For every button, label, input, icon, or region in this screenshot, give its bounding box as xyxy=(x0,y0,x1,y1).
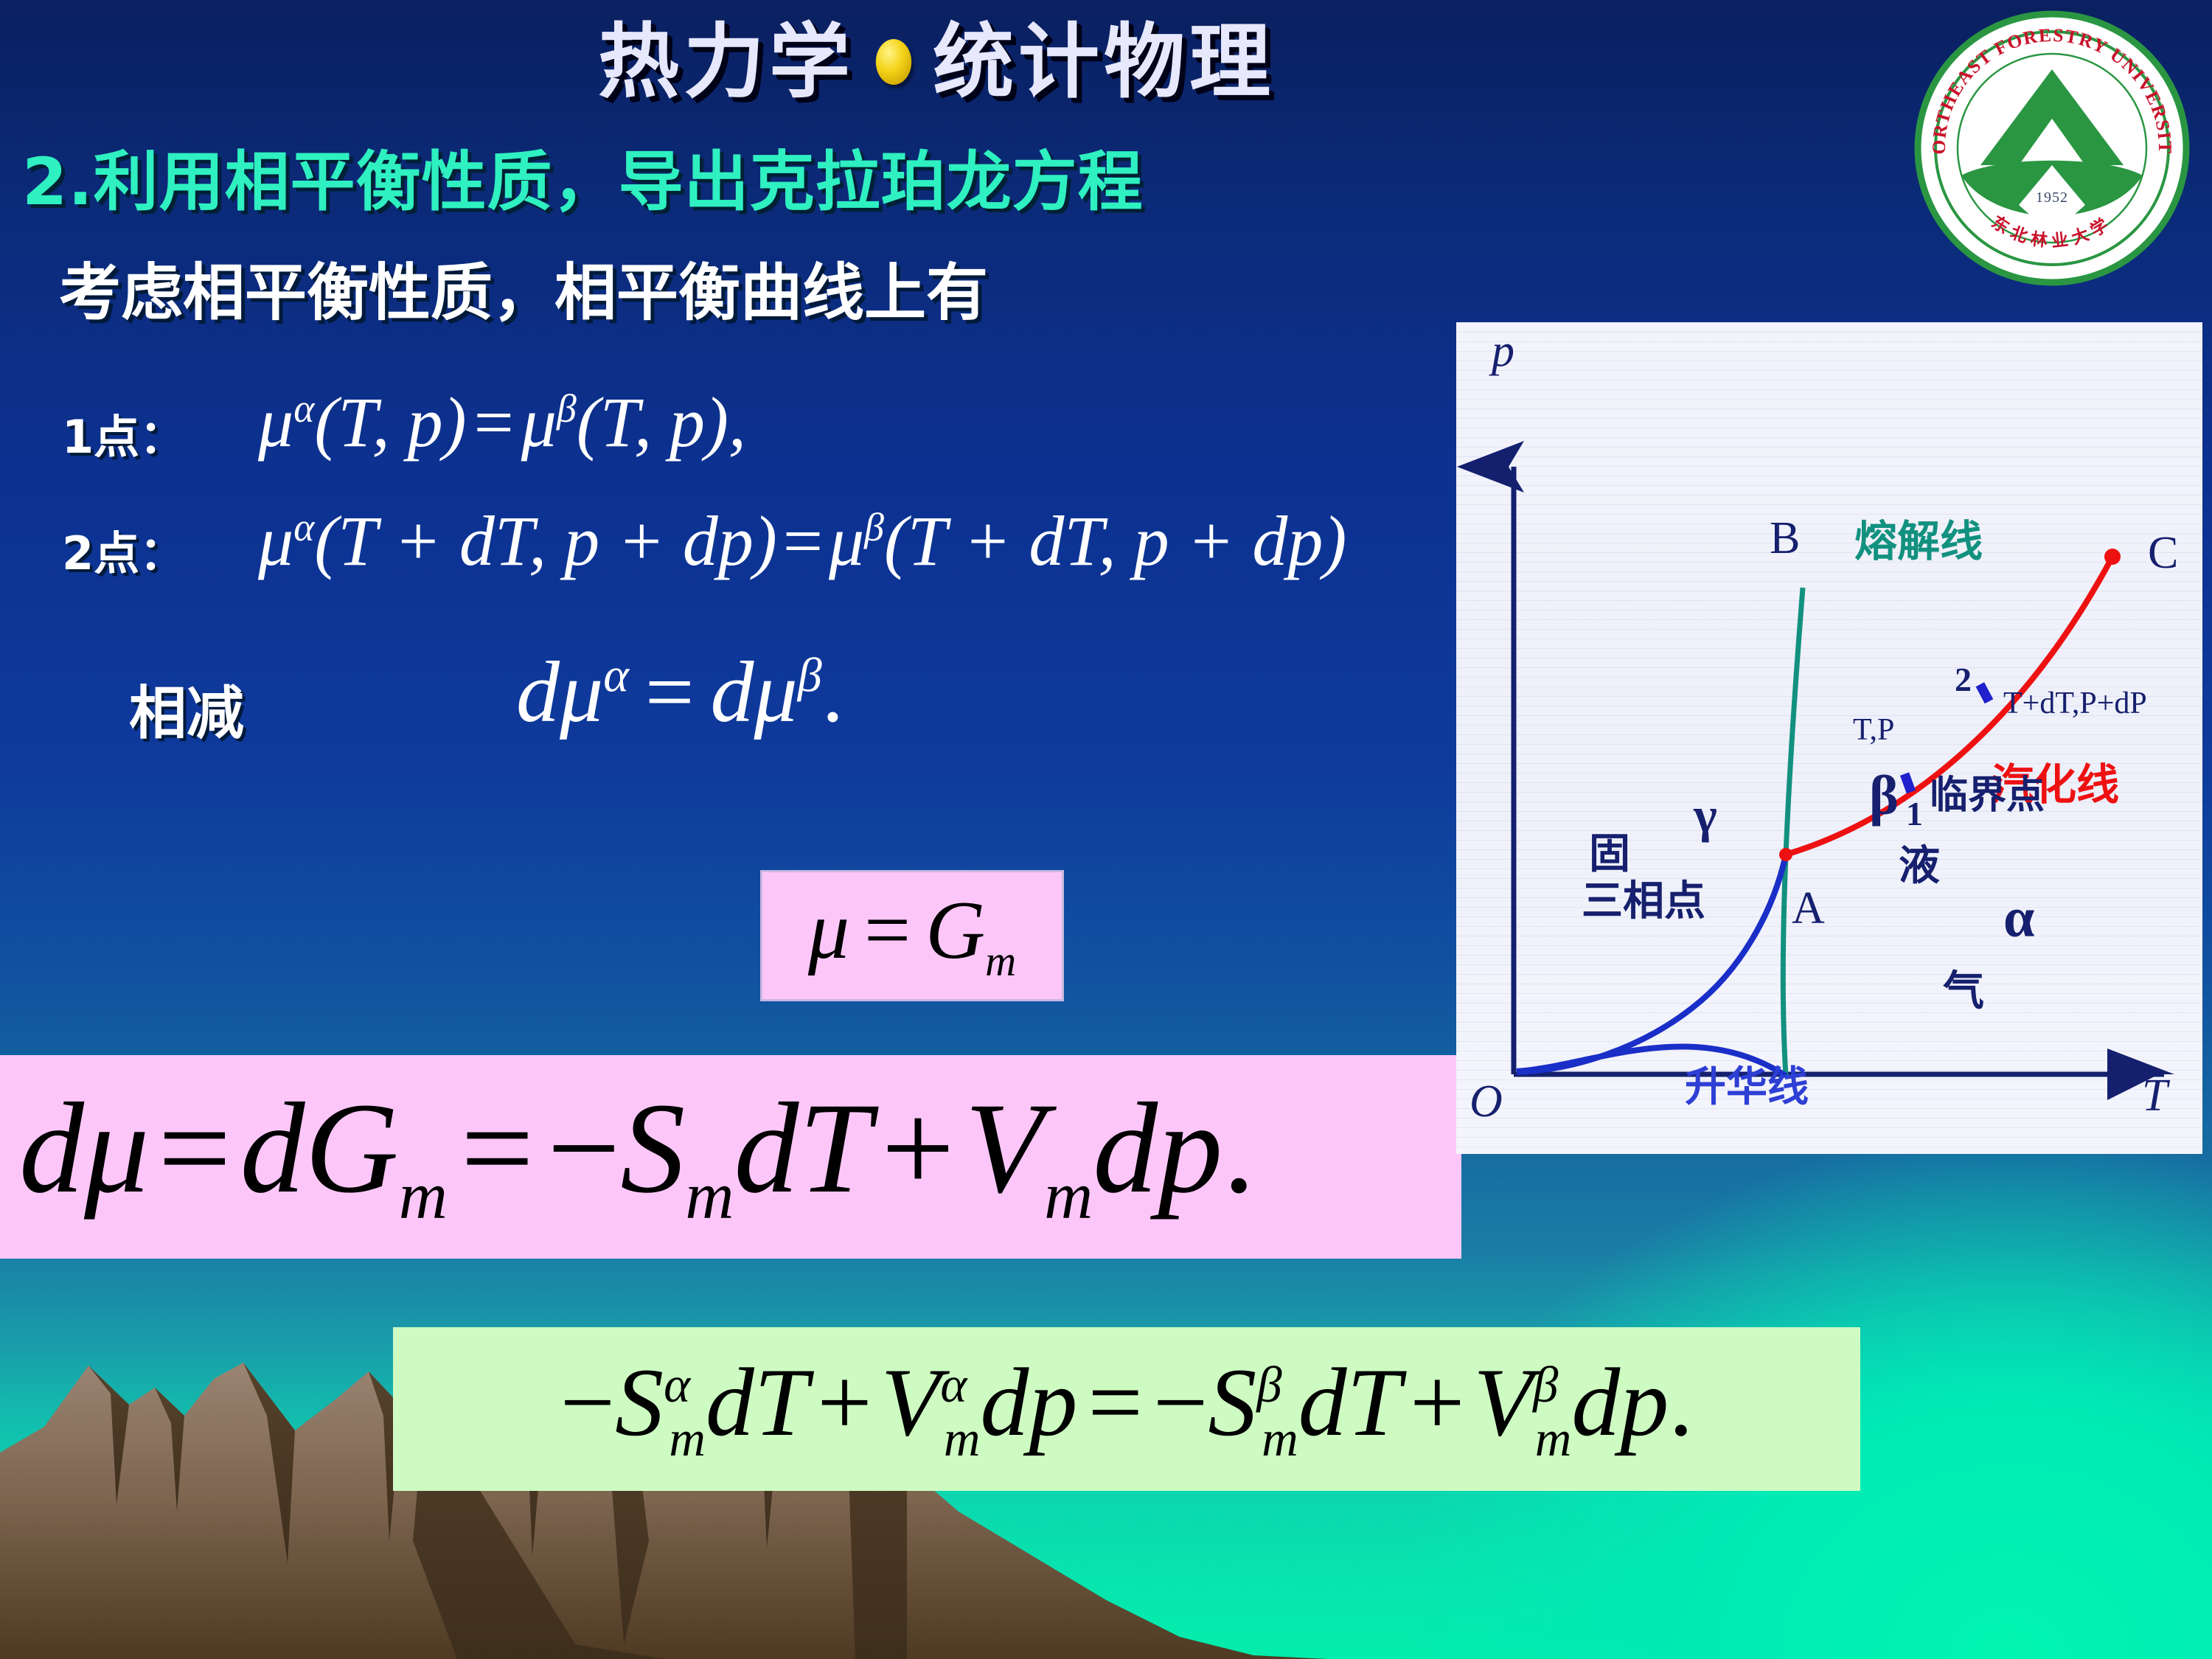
pink-equation: dμ=dGm=−SmdT+Vmdp. xyxy=(19,1084,1255,1230)
p-axis-label: p xyxy=(1492,328,1514,374)
eq2-rhs-sup: β xyxy=(864,505,884,549)
eqs-lhs-sup: α xyxy=(603,649,629,703)
green-l-minus: − xyxy=(560,1348,615,1456)
point-1-number: 1 xyxy=(1906,797,1923,831)
green-r-dp: dp xyxy=(1571,1348,1669,1456)
eqs-lhs-d: d xyxy=(516,644,560,740)
pink-equals-2: = xyxy=(448,1077,547,1220)
eq1-equals: = xyxy=(467,383,521,462)
origin-label: O xyxy=(1470,1079,1503,1124)
gas-region-label: 气 xyxy=(1943,971,1984,1012)
page-title: 热力学统计物理 xyxy=(0,0,1873,114)
green-r-S-sup: β xyxy=(1256,1357,1281,1413)
label-alpha: α xyxy=(2003,890,2034,946)
pink-dp: dp xyxy=(1093,1077,1222,1220)
pink-dT: dT xyxy=(734,1077,871,1220)
pink-dG-sub: m xyxy=(399,1158,448,1233)
green-l-dT: dT xyxy=(706,1348,808,1456)
eqs-rhs-mu: μ xyxy=(754,644,797,740)
critical-point-marker xyxy=(2104,549,2121,565)
eq1-rhs-mu: μ xyxy=(521,383,557,462)
eqs-lhs-mu: μ xyxy=(560,644,603,740)
pink-equals-1: = xyxy=(149,1077,240,1220)
label-B: B xyxy=(1770,515,1800,561)
green-l-S-sub: m xyxy=(669,1411,706,1467)
solid-region-label: 固 xyxy=(1589,834,1630,875)
pink-dmu: dμ xyxy=(19,1077,149,1220)
green-l-plus: + xyxy=(808,1348,880,1456)
eq1-lhs-mu: μ xyxy=(258,383,293,462)
green-r-plus: + xyxy=(1401,1348,1473,1456)
green-period: . xyxy=(1669,1348,1693,1456)
phase-diagram: p O T B C A 熔解线 升华线 汽化线 γ β α 固 液 气 临界点 … xyxy=(1456,322,2202,1154)
pink-dG-G: G xyxy=(305,1077,399,1220)
pink-V: V xyxy=(965,1077,1045,1220)
point-1-coords: T,P xyxy=(1853,714,1894,745)
university-logo: NORTHEAST FORESTRY UNIVERSITY 东北林业大学 195… xyxy=(1908,4,2196,292)
green-l-S-sup: α xyxy=(664,1357,690,1413)
green-r-S: S xyxy=(1208,1348,1256,1456)
pink-plus: + xyxy=(871,1077,964,1220)
label-A: A xyxy=(1792,886,1825,931)
eq1-lhs-sup: α xyxy=(293,386,314,431)
equation-point1: μα(T, p)=μβ(T, p), xyxy=(258,387,746,458)
mu-box-equation: μ=Gm xyxy=(808,889,1016,983)
green-l-S: S xyxy=(615,1348,664,1456)
green-r-V-sub: m xyxy=(1535,1411,1572,1467)
pink-S: S xyxy=(620,1077,685,1220)
eqs-rhs-d: d xyxy=(710,644,754,740)
pink-equation-band: dμ=dGm=−SmdT+Vmdp. xyxy=(0,1055,1461,1259)
eq2-lhs-sup: α xyxy=(293,505,314,549)
mubox-mu: μ xyxy=(808,885,849,976)
green-r-V: V xyxy=(1474,1348,1534,1456)
T-axis-label: T xyxy=(2142,1073,2167,1119)
equation-subtract: dμα=dμβ. xyxy=(516,649,844,736)
triple-point-label: 三相点 xyxy=(1582,881,1705,922)
pink-period: . xyxy=(1222,1077,1255,1220)
label-C: C xyxy=(2148,530,2178,576)
point-2-number: 2 xyxy=(1955,663,1972,697)
green-l-V-sup: α xyxy=(940,1357,967,1413)
green-l-dp: dp xyxy=(980,1348,1077,1456)
mu-equals-gm-box: μ=Gm xyxy=(760,870,1064,1001)
gold-bullet-icon xyxy=(876,39,911,85)
point-2-marker xyxy=(1976,682,1994,703)
eq2-lhs-args: (T + dT, p + dp) xyxy=(314,501,776,580)
sublimation-line-label: 升华线 xyxy=(1685,1067,1809,1108)
point-1-marker xyxy=(1900,772,1916,793)
melting-line-label: 熔解线 xyxy=(1854,520,1983,563)
eq1-rhs-args: (T, p), xyxy=(577,383,746,462)
phase-diagram-svg xyxy=(1456,322,2202,1154)
green-l-V-sub: m xyxy=(944,1411,981,1467)
green-r-S-sub: m xyxy=(1262,1411,1298,1467)
pink-V-sub: m xyxy=(1044,1158,1093,1233)
critical-point-label: 临界点 xyxy=(1930,776,2045,815)
green-r-V-sup: β xyxy=(1533,1357,1558,1413)
liquid-region-label: 液 xyxy=(1899,846,1940,887)
green-equals: = xyxy=(1077,1348,1152,1456)
section-heading: 2.利用相平衡性质，导出克拉珀龙方程 xyxy=(22,130,1144,223)
eq1-lhs-args: (T, p) xyxy=(314,383,466,462)
eqs-equals: = xyxy=(629,644,711,740)
green-equation-band: −SαmdT+Vαmdp=−SβmdT+Vβmdp. xyxy=(393,1327,1860,1491)
mubox-G: G xyxy=(925,885,985,976)
subtract-label: 相减 xyxy=(129,667,244,750)
label-gamma: γ xyxy=(1694,790,1717,840)
eqs-rhs-sup: β xyxy=(798,649,822,703)
point-2-coords: T+dT,P+dP xyxy=(2003,688,2147,719)
equation-point2: μα(T + dT, p + dp)=μβ(T + dT, p + dp) xyxy=(258,506,1346,577)
point1-label: 1点： xyxy=(62,400,185,466)
melting-line-curve xyxy=(1783,588,1803,1076)
label-beta: β xyxy=(1869,768,1899,824)
eq2-lhs-mu: μ xyxy=(258,501,293,580)
pink-minus: − xyxy=(547,1077,620,1220)
point2-label: 2点： xyxy=(62,516,185,582)
mubox-equals: = xyxy=(849,885,925,976)
green-r-minus: − xyxy=(1153,1348,1208,1456)
green-r-dT: dT xyxy=(1298,1348,1401,1456)
logo-year: 1952 xyxy=(2036,189,2068,206)
pink-dG-d: d xyxy=(240,1077,305,1220)
page-title-part2: 统计物理 xyxy=(933,15,1275,109)
green-equation: −SαmdT+Vαmdp=−SβmdT+Vβmdp. xyxy=(560,1354,1694,1464)
triple-point-marker xyxy=(1779,848,1792,861)
pink-S-sub: m xyxy=(685,1158,734,1233)
eq2-rhs-mu: μ xyxy=(829,501,864,580)
eq2-rhs-args: (T + dT, p + dp) xyxy=(884,501,1346,580)
mubox-sub: m xyxy=(985,936,1016,984)
eq1-rhs-sup: β xyxy=(557,386,577,431)
green-l-V: V xyxy=(881,1348,941,1456)
lead-text: 考虑相平衡性质，相平衡曲线上有 xyxy=(59,243,988,333)
page-title-part1: 热力学 xyxy=(598,15,855,109)
eqs-period: . xyxy=(822,644,844,740)
eq2-equals: = xyxy=(777,501,829,580)
